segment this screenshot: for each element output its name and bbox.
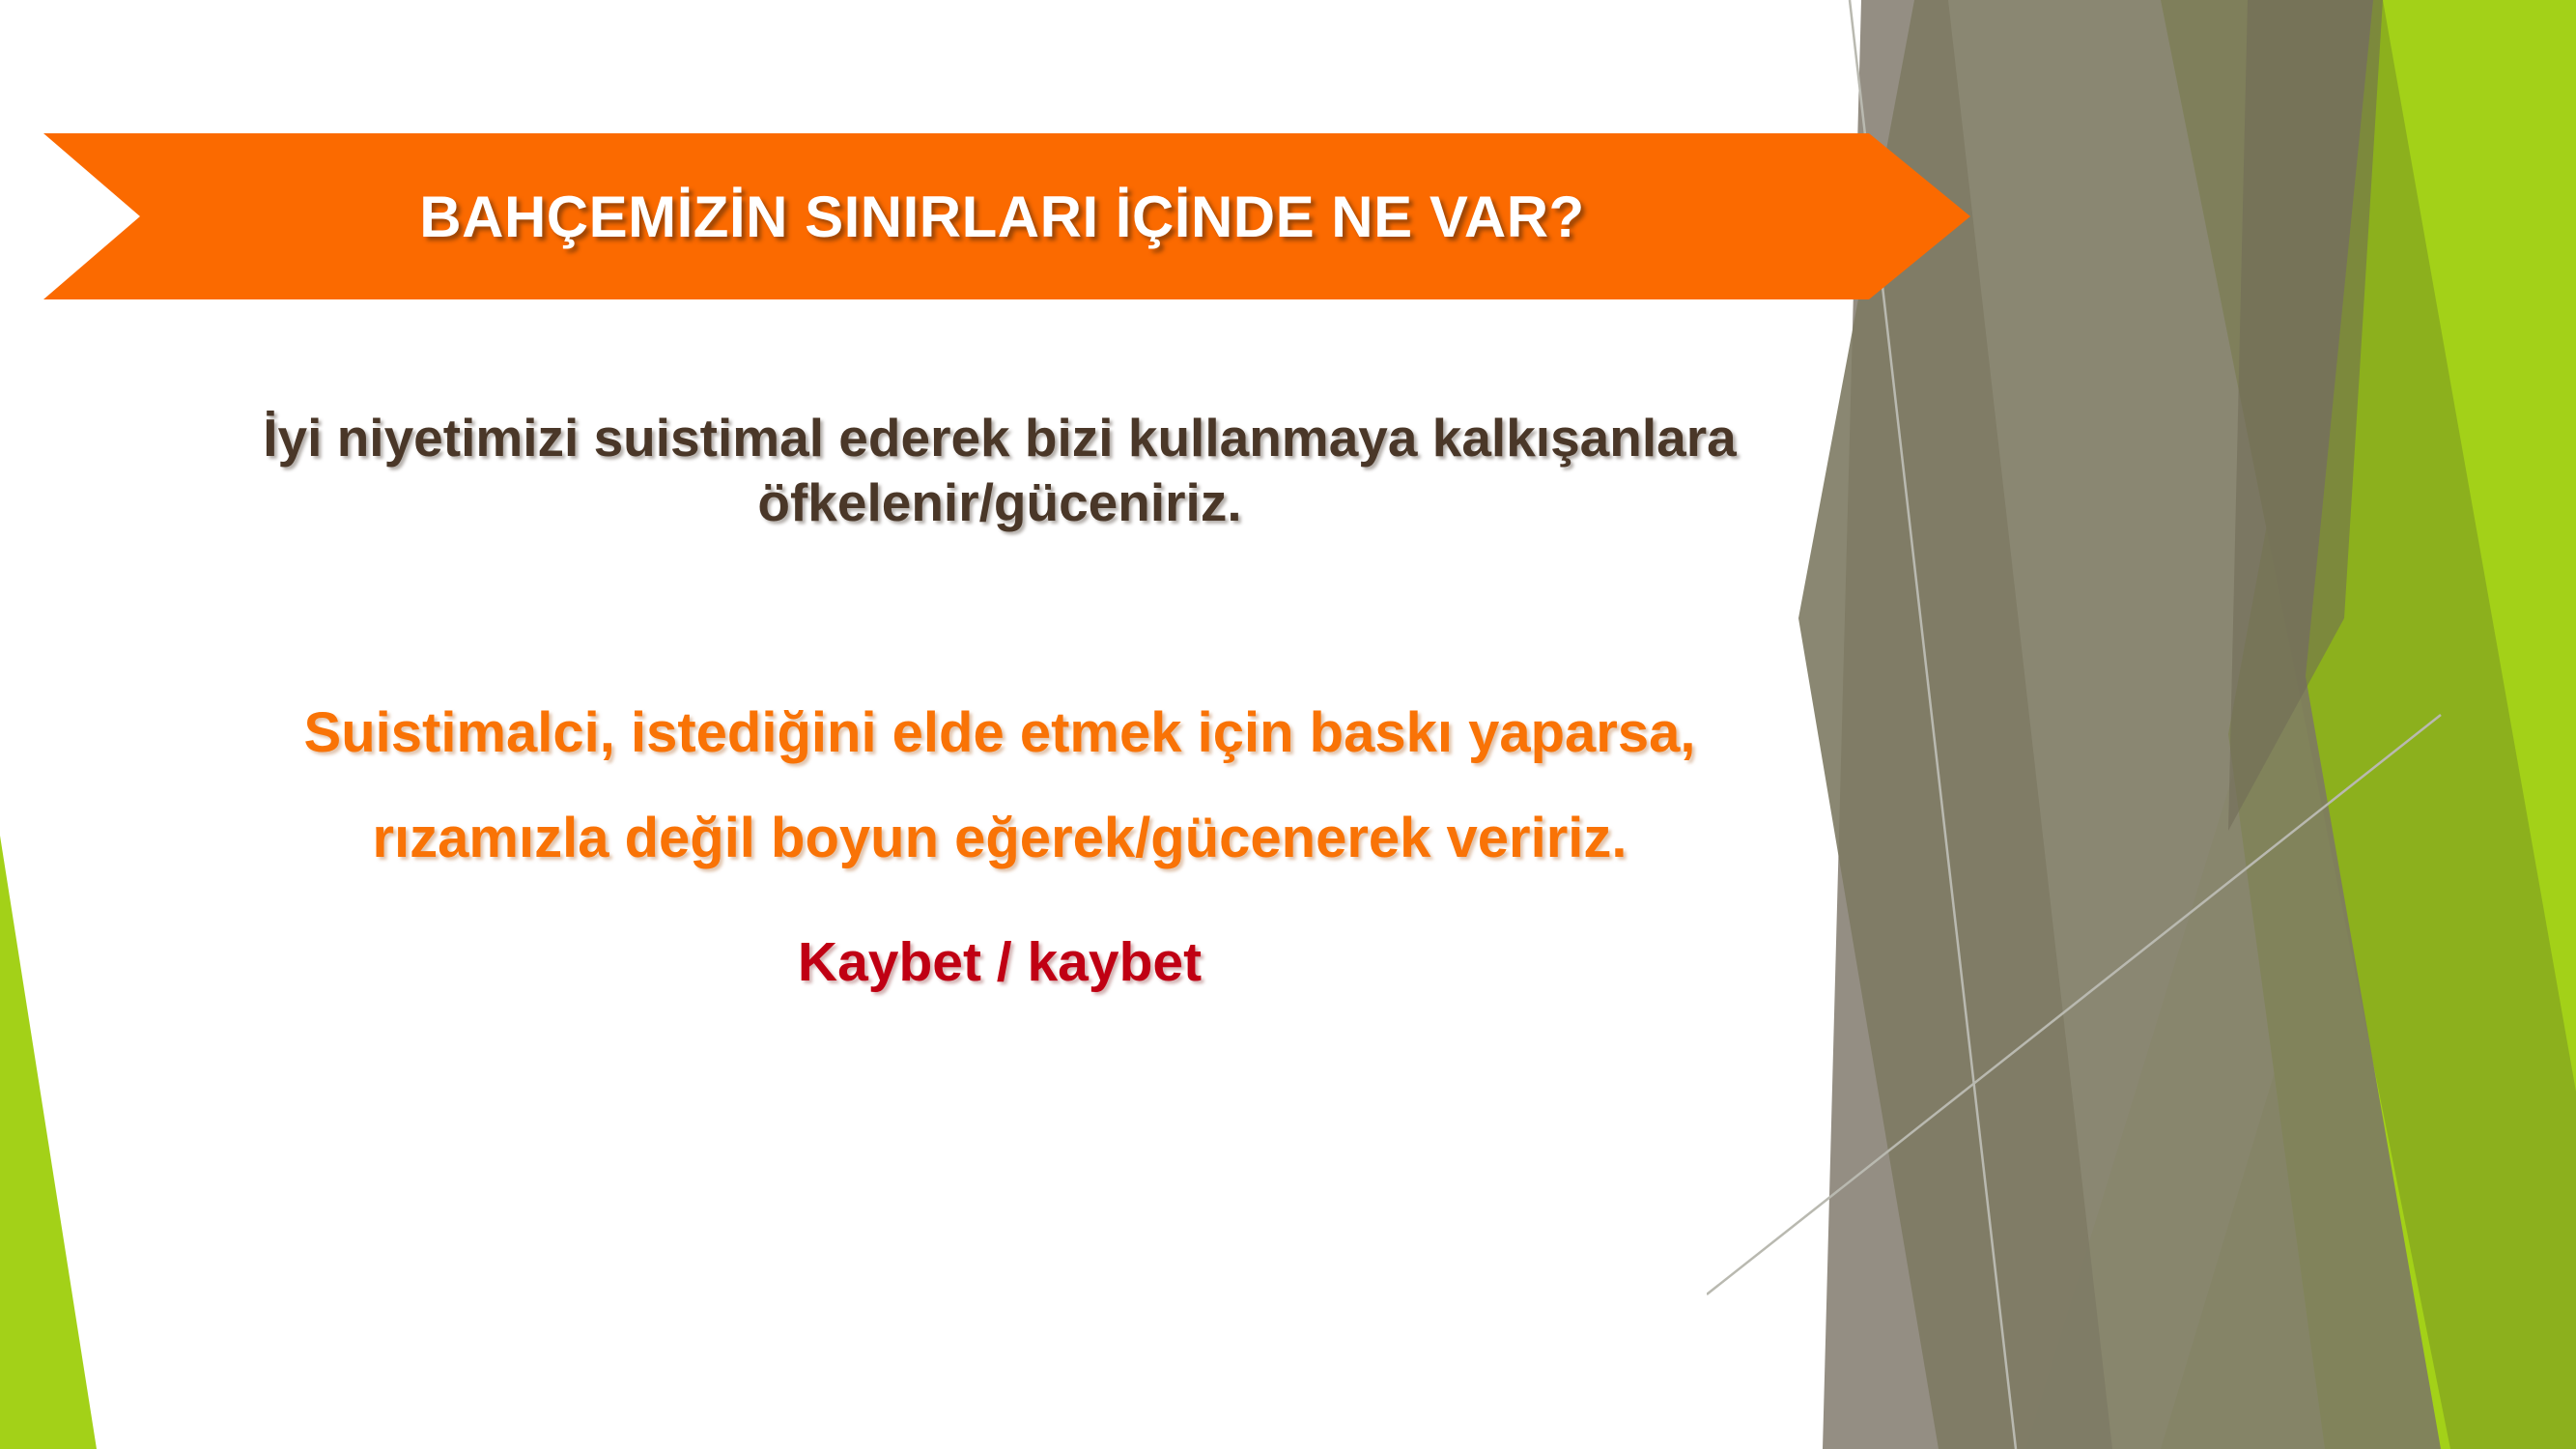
paragraph-pressure: Suistimalci, istediğini elde etmek için …: [145, 699, 1854, 768]
deco-gray-overlap: [2228, 0, 2383, 831]
paragraph-intent: İyi niyetimizi suistimal ederek bizi kul…: [145, 406, 1854, 535]
body-spacer-two: [145, 873, 1854, 929]
deco-light-green-wedge: [2161, 464, 2576, 1449]
deco-pale-green-wedge: [2025, 241, 2576, 1449]
paragraph-outcome: Kaybet / kaybet: [145, 929, 1854, 997]
paragraph-consent: rızamızla değil boyun eğerek/gücenerek v…: [145, 805, 1854, 873]
slide-body: İyi niyetimizi suistimal ederek bizi kul…: [145, 406, 1854, 996]
title-banner: BAHÇEMİZİN SINIRLARI İÇİNDE NE VAR?: [43, 133, 1970, 299]
page-title: BAHÇEMİZİN SINIRLARI İÇİNDE NE VAR?: [43, 133, 1970, 299]
deco-left-green-wedge: [0, 836, 97, 1449]
body-spacer-one: [145, 535, 1854, 699]
deco-bright-green-column: [2228, 0, 2576, 1449]
slide-canvas: BAHÇEMİZİN SINIRLARI İÇİNDE NE VAR? İyi …: [0, 0, 2576, 1449]
deco-olive-green-band: [2161, 0, 2576, 1449]
